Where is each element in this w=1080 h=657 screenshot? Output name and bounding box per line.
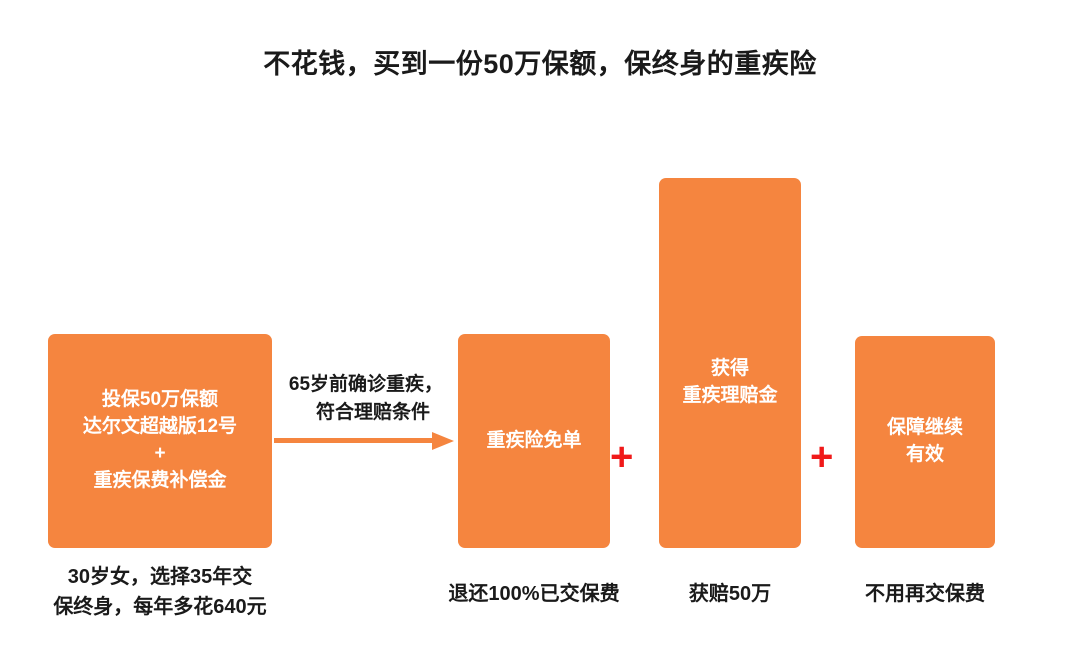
arrow-label: 65岁前确诊重疾， 符合理赔条件 (262, 371, 470, 426)
box-product[interactable]: 投保50万保额 达尔文超越版12号 + 重疾保费补偿金 (48, 334, 272, 548)
box-product-line-4: 重疾保费补偿金 (93, 468, 226, 495)
box-coverage-line-2: 有效 (906, 442, 944, 469)
box-payout[interactable]: 获得 重疾理赔金 (659, 178, 801, 548)
arrow-head (432, 432, 454, 450)
box-product-line-1: 投保50万保额 (102, 387, 218, 414)
plus-operator-1: + (610, 437, 633, 477)
box-waiver-line-1: 重疾险免单 (486, 428, 581, 455)
caption-waiver: 退还100%已交保费 (408, 579, 660, 609)
box-payout-text: 获得 重疾理赔金 (682, 356, 777, 410)
caption-coverage-line-1: 不用再交保费 (840, 579, 1010, 609)
flow-arrow-icon (274, 432, 458, 450)
plus-operator-2: + (810, 437, 833, 477)
caption-payout: 获赔50万 (650, 579, 810, 609)
caption-coverage: 不用再交保费 (840, 579, 1010, 609)
caption-waiver-line-1: 退还100%已交保费 (408, 579, 660, 609)
caption-product-line-1: 30岁女，选择35年交 (20, 562, 300, 592)
caption-payout-line-1: 获赔50万 (650, 579, 810, 609)
box-waiver[interactable]: 重疾险免单 (458, 334, 610, 548)
box-coverage-line-1: 保障继续 (887, 415, 963, 442)
box-product-plus-operator: + (154, 441, 165, 468)
arrow-label-line-1: 65岁前确诊重疾， (262, 371, 470, 399)
box-product-line-2: 达尔文超越版12号 (83, 414, 237, 441)
arrow-shaft (274, 438, 434, 443)
box-coverage[interactable]: 保障继续 有效 (855, 336, 995, 548)
caption-product-line-2: 保终身，每年多花640元 (20, 592, 300, 622)
diagram-canvas: 不花钱，买到一份50万保额，保终身的重疾险 投保50万保额 达尔文超越版12号 … (0, 0, 1080, 657)
page-title: 不花钱，买到一份50万保额，保终身的重疾险 (0, 42, 1080, 81)
box-payout-line-1: 获得 (682, 356, 777, 383)
caption-product: 30岁女，选择35年交 保终身，每年多花640元 (20, 562, 300, 622)
box-payout-line-2: 重疾理赔金 (682, 383, 777, 410)
arrow-label-line-2: 符合理赔条件 (262, 399, 470, 427)
